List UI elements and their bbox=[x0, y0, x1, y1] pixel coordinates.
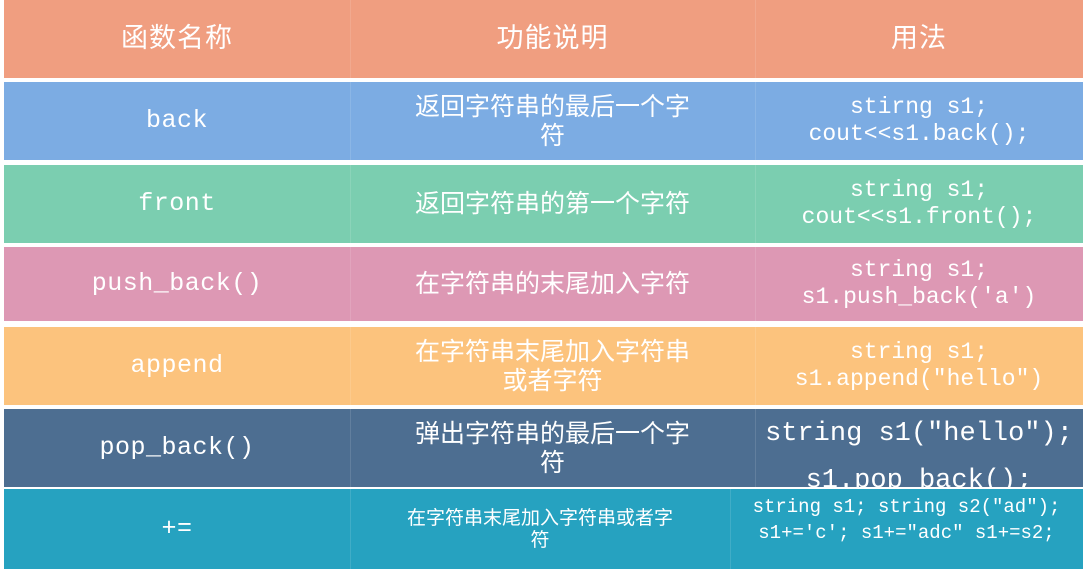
cell-function-name: append bbox=[4, 327, 350, 405]
table-header-row: 函数名称 功能说明 用法 bbox=[4, 0, 1083, 78]
cell-usage: string s1("hello"); s1.pop back(); bbox=[755, 409, 1083, 487]
table-row: += 在字符串末尾加入字符串或者字 符 string s1; string s2… bbox=[4, 489, 1083, 569]
cell-function-name: push_back() bbox=[4, 247, 350, 321]
table-row: front 返回字符串的第一个字符 string s1; cout<<s1.fr… bbox=[4, 165, 1083, 243]
string-functions-table: 函数名称 功能说明 用法 back 返回字符串的最后一个字 符 stirng s… bbox=[0, 0, 1083, 569]
cell-function-name: pop_back() bbox=[4, 409, 350, 487]
cell-usage: string s1; s1.push_back('a') bbox=[755, 247, 1083, 321]
cell-description: 在字符串的末尾加入字符 bbox=[350, 247, 755, 321]
header-cell-usage: 用法 bbox=[755, 0, 1083, 78]
cell-usage: string s1; s1.append("hello") bbox=[755, 327, 1083, 405]
cell-description: 返回字符串的最后一个字 符 bbox=[350, 82, 755, 160]
table-row: push_back() 在字符串的末尾加入字符 string s1; s1.pu… bbox=[4, 247, 1083, 321]
cell-description: 在字符串末尾加入字符串 或者字符 bbox=[350, 327, 755, 405]
cell-description: 返回字符串的第一个字符 bbox=[350, 165, 755, 243]
table-row: back 返回字符串的最后一个字 符 stirng s1; cout<<s1.b… bbox=[4, 82, 1083, 160]
cell-function-name: front bbox=[4, 165, 350, 243]
cell-usage: string s1; string s2("ad"); s1+='c'; s1+… bbox=[730, 489, 1083, 569]
cell-description: 在字符串末尾加入字符串或者字 符 bbox=[350, 489, 730, 569]
cell-description: 弹出字符串的最后一个字 符 bbox=[350, 409, 755, 487]
header-cell-function-name: 函数名称 bbox=[4, 0, 350, 78]
cell-function-name: += bbox=[4, 489, 350, 569]
table-row: pop_back() 弹出字符串的最后一个字 符 string s1("hell… bbox=[4, 409, 1083, 487]
cell-usage: stirng s1; cout<<s1.back(); bbox=[755, 82, 1083, 160]
cell-function-name: back bbox=[4, 82, 350, 160]
cell-usage: string s1; cout<<s1.front(); bbox=[755, 165, 1083, 243]
header-cell-description: 功能说明 bbox=[350, 0, 755, 78]
table-row: append 在字符串末尾加入字符串 或者字符 string s1; s1.ap… bbox=[4, 327, 1083, 405]
